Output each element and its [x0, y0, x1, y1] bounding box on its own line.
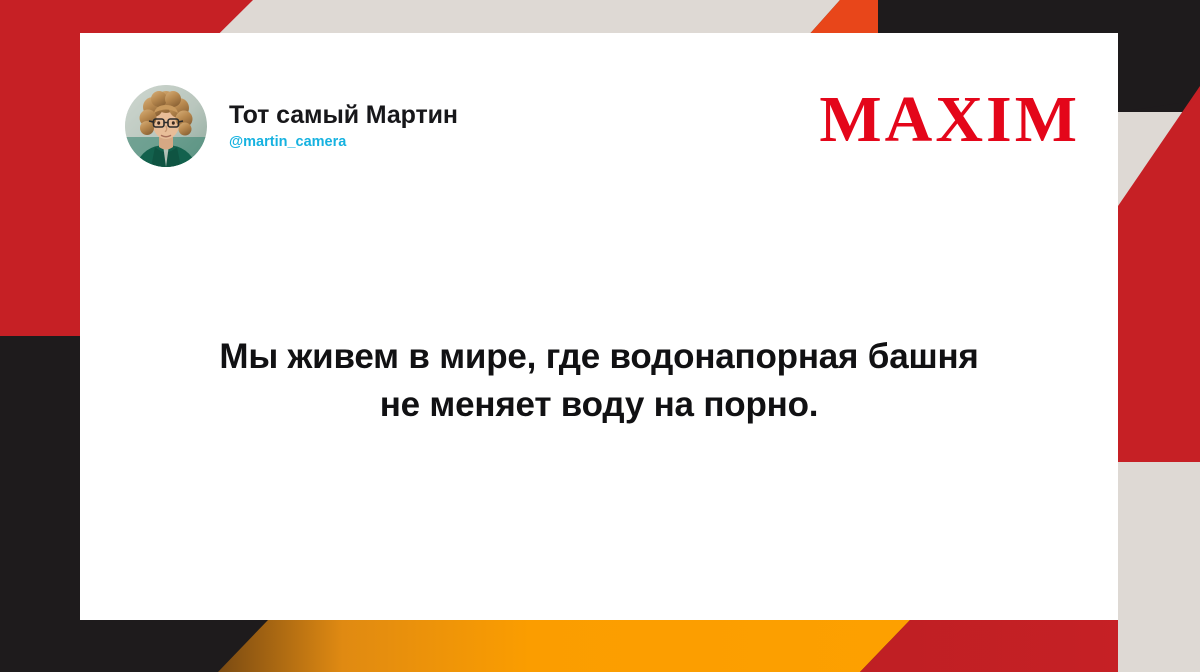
- card-header: Тот самый Мартин @martin_camera MAXIM: [125, 85, 1080, 181]
- bg-left-red-column: [0, 0, 80, 336]
- avatar: [125, 85, 207, 167]
- profile-display-name: Тот самый Мартин: [229, 101, 458, 130]
- profile-block: Тот самый Мартин @martin_camera: [125, 85, 458, 167]
- bg-bottom-orange-band: [218, 620, 910, 672]
- profile-names: Тот самый Мартин @martin_camera: [229, 101, 458, 152]
- quote-line-2: не меняет воду на порно.: [125, 381, 1073, 429]
- quote-line-1: Мы живем в мире, где водонапорная башня: [125, 333, 1073, 381]
- meme-card-canvas: Тот самый Мартин @martin_camera MAXIM Мы…: [0, 0, 1200, 672]
- maxim-logo: MAXIM: [819, 87, 1080, 153]
- quote-text: Мы живем в мире, где водонапорная башня …: [125, 333, 1073, 430]
- quote-card: Тот самый Мартин @martin_camera MAXIM Мы…: [80, 33, 1118, 620]
- profile-handle[interactable]: @martin_camera: [229, 135, 458, 151]
